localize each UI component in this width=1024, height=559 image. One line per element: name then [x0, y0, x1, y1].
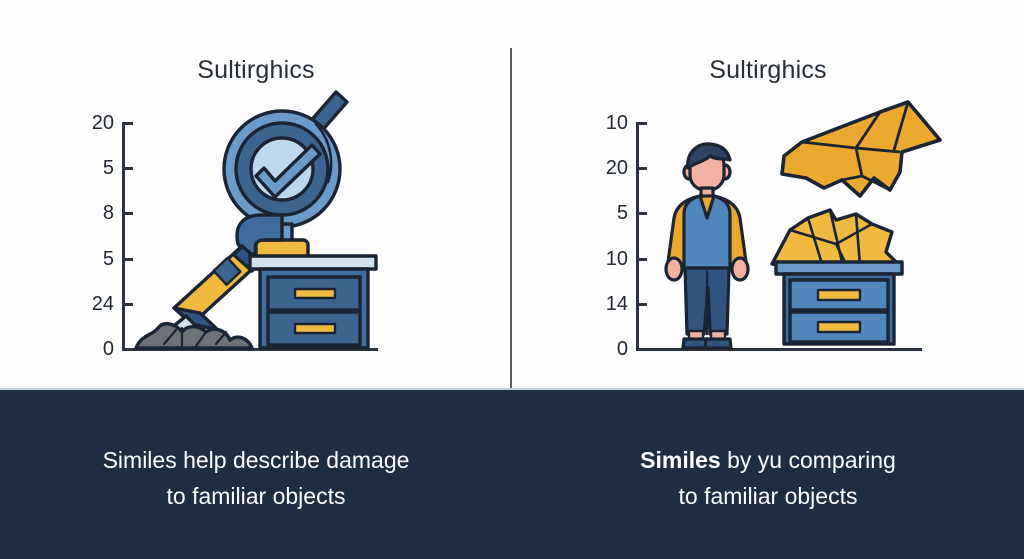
caption-right-line1: Similes by yu comparing — [512, 442, 1024, 478]
y-tick-label-4-right: 14 — [582, 294, 628, 314]
caption-right-emphasis: Similes — [640, 447, 721, 473]
y-tick-2-right — [636, 212, 647, 215]
y-tick-3-right — [636, 258, 647, 261]
y-tick-label-2-left: 8 — [68, 203, 114, 223]
caption-band-top-rule — [0, 388, 1024, 390]
right-illustration-floating-paper — [764, 86, 954, 202]
y-tick-5-right — [636, 348, 647, 351]
right-illustration-person — [652, 138, 762, 354]
y-tick-label-1-right: 20 — [582, 158, 628, 178]
y-axis-line-right — [636, 122, 639, 351]
y-tick-label-5-left: 0 — [68, 339, 114, 359]
y-tick-label-1-left: 5 — [68, 158, 114, 178]
panel-right: Sultirghics 10 20 5 10 14 0 — [512, 0, 1024, 388]
right-illustration-cabinet — [764, 196, 916, 352]
y-tick-label-0-right: 10 — [582, 113, 628, 133]
y-tick-label-5-right: 0 — [582, 339, 628, 359]
caption-left: Similes help describe damage to familiar… — [0, 442, 512, 514]
caption-right-line1-text: by yu comparing — [727, 447, 896, 473]
y-tick-4-right — [636, 303, 647, 306]
filing-cabinet-icon — [764, 196, 916, 352]
y-tick-1-right — [636, 167, 647, 170]
y-tick-0-right — [636, 122, 647, 125]
caption-band: Similes help describe damage to familiar… — [0, 388, 1024, 559]
y-tick-label-0-left: 20 — [68, 113, 114, 133]
jackhammer-breaking-rubble-beside-cabinet-with-gauge-icon — [130, 82, 390, 352]
caption-left-line2: to familiar objects — [0, 478, 512, 514]
y-tick-label-4-left: 24 — [68, 294, 114, 314]
crumpled-paper-icon — [764, 86, 954, 202]
panel-divider-upper — [510, 48, 512, 388]
y-tick-label-3-left: 5 — [68, 249, 114, 269]
caption-left-line1: Similes help describe damage — [0, 442, 512, 478]
left-illustration — [130, 82, 390, 352]
person-standing-icon — [652, 138, 762, 354]
caption-right: Similes by yu comparing to familiar obje… — [512, 442, 1024, 514]
y-axis-line-left — [122, 122, 125, 351]
y-tick-label-2-right: 5 — [582, 203, 628, 223]
y-tick-label-3-right: 10 — [582, 249, 628, 269]
slide-canvas: Sultirghics 20 5 8 5 24 0 — [0, 0, 1024, 559]
panel-left: Sultirghics 20 5 8 5 24 0 — [0, 0, 512, 388]
caption-right-line2: to familiar objects — [512, 478, 1024, 514]
